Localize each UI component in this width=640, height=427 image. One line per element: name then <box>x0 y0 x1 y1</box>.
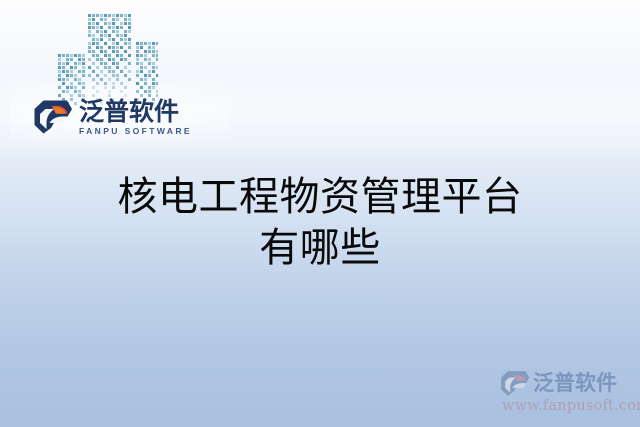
fanpu-hexagon-logo-icon <box>33 99 73 135</box>
title-line-1: 核电工程物资管理平台 <box>0 172 640 223</box>
brand-name-en: FANPU SOFTWARE <box>79 126 192 137</box>
watermark-logo-row: 泛普软件 <box>500 368 638 398</box>
promo-banner: 泛普软件 FANPU SOFTWARE 核电工程物资管理平台 有哪些 泛普软件 … <box>0 0 640 427</box>
watermark-url: www.fanpusoft.com <box>502 398 638 415</box>
center-tower <box>88 14 131 105</box>
brand-name-cn: 泛普软件 <box>79 99 192 125</box>
page-title: 核电工程物资管理平台 有哪些 <box>0 172 640 274</box>
fanpu-hexagon-watermark-icon <box>500 370 530 397</box>
watermark-name-cn: 泛普软件 <box>533 372 617 394</box>
brand-logo-lockup: 泛普软件 FANPU SOFTWARE <box>33 99 192 137</box>
pixel-skyline-graphic <box>58 14 158 106</box>
brand-watermark: 泛普软件 www.fanpusoft.com <box>500 368 638 415</box>
title-line-2: 有哪些 <box>0 223 640 274</box>
brand-wordmark: 泛普软件 FANPU SOFTWARE <box>79 99 192 137</box>
